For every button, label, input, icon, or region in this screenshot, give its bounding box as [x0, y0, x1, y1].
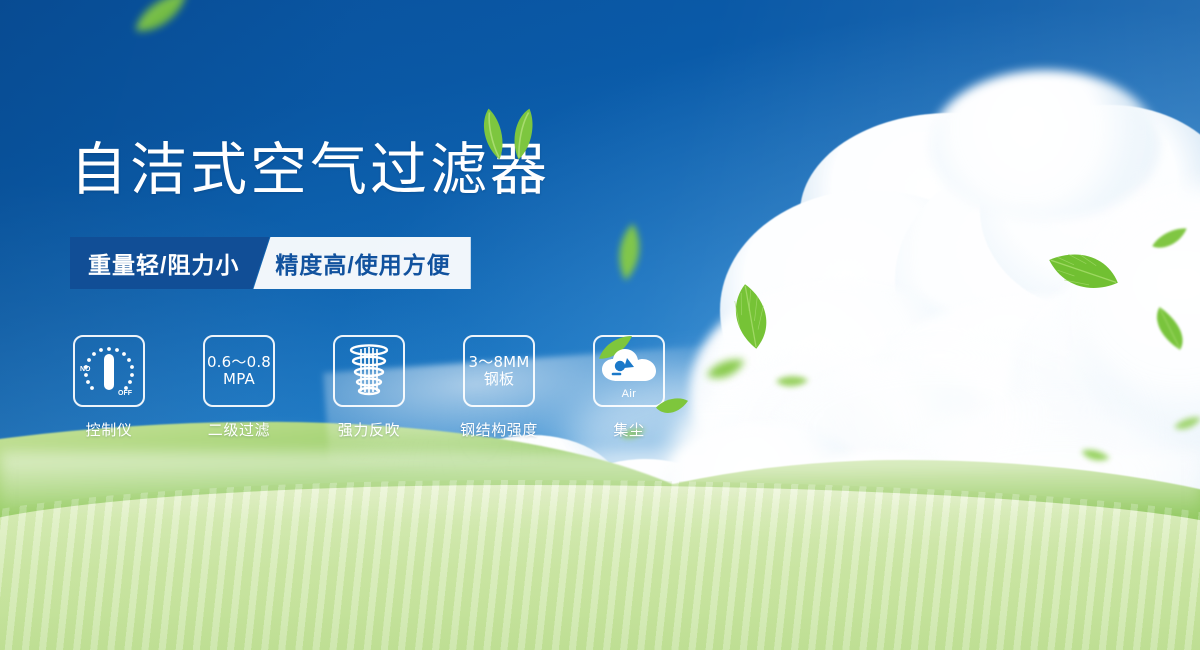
pressure-unit: MPA: [207, 371, 271, 388]
subtitle-bar: 重量轻/阻力小 精度高/使用方便: [70, 237, 471, 289]
air-label: Air: [595, 388, 663, 400]
feature-icon-box: 0.6～0.8 MPA: [203, 335, 275, 407]
steel-thickness: 3～8MM: [469, 354, 530, 371]
two-leaf-sprout-icon: [472, 106, 544, 162]
feature-item-two-stage-filter[interactable]: 0.6～0.8 MPA 二级过滤: [200, 335, 278, 440]
cloud-air-icon: [600, 347, 658, 387]
feature-label: 钢结构强度: [460, 419, 538, 440]
feature-label: 集尘: [613, 419, 644, 440]
filter-cartridge-icon: [343, 343, 395, 399]
dial-on-label: NO: [80, 366, 91, 373]
feature-item-strong-backblow[interactable]: 强力反吹: [330, 335, 408, 440]
subtitle-right-badge: 精度高/使用方便: [253, 237, 470, 289]
dial-off-label: OFF: [118, 390, 133, 397]
feature-item-control-meter[interactable]: NO OFF 控制仪: [70, 335, 148, 440]
icon-leaf-icon: [655, 397, 689, 417]
dial-gauge-icon: NO OFF: [78, 341, 140, 401]
steel-text-icon: 3～8MM 钢板: [469, 354, 530, 388]
feature-list: NO OFF 控制仪 0.6～0.8 MPA 二级过滤: [70, 335, 668, 440]
subtitle-left-badge: 重量轻/阻力小: [70, 237, 269, 289]
feature-label: 控制仪: [86, 419, 133, 440]
feature-icon-box: Air: [593, 335, 665, 407]
feature-label: 二级过滤: [208, 419, 270, 440]
feature-label: 强力反吹: [338, 419, 400, 440]
feature-item-dust-collection[interactable]: Air 集尘: [590, 335, 668, 440]
pressure-range: 0.6～0.8: [207, 354, 271, 371]
product-banner: 自洁式空气过滤器 重量轻/阻力小 精度高/使用方便: [0, 0, 1200, 650]
pressure-text-icon: 0.6～0.8 MPA: [207, 354, 271, 388]
feature-icon-box: 3～8MM 钢板: [463, 335, 535, 407]
steel-material: 钢板: [469, 371, 530, 388]
feature-icon-box: NO OFF: [73, 335, 145, 407]
feature-item-steel-strength[interactable]: 3～8MM 钢板 钢结构强度: [460, 335, 538, 440]
feature-icon-box: [333, 335, 405, 407]
